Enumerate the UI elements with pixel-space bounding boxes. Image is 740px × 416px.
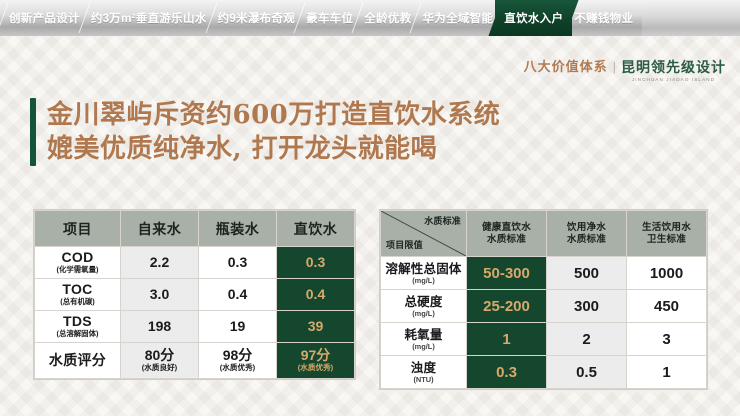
row-metric-name: TDS [63,314,92,329]
brand-divider: | [613,58,616,76]
cell-direct-highlight: 0.4 [277,279,355,311]
cell-tap: 198 [121,311,199,343]
nav-tab-4-label: 全龄优教 [364,10,411,26]
cell-tap-value: 80分 [145,348,175,363]
nav-tab-0[interactable]: 创新产品设计 [0,0,89,36]
nav-tab-5-label: 华为全域智能 [422,10,493,26]
cell-purified: 0.5 [547,356,627,389]
cell-bottled-value: 0.4 [228,287,247,302]
row-metric-sub: (总有机碳) [60,297,95,307]
row-metric-name: TOC [62,282,92,297]
row-item-unit: (NTU) [413,375,433,384]
col-header-purified: 饮用净水 水质标准 [547,211,627,257]
nav-tab-0-label: 创新产品设计 [9,10,80,26]
top-navigation-bar: 创新产品设计 约3万m²垂直游乐山水 约9米瀑布奇观 豪车车位 全龄优教 华为全… [0,0,740,36]
col-header-domestic: 生活饮用水 卫生标准 [627,211,707,257]
table-header-row: 水质标准 项目限值 健康直饮水 水质标准 饮用净水 水质标准 [381,211,707,257]
headline-line-2: 媲美优质纯净水, 打开龙头就能喝 [47,132,500,166]
row-item-unit: (mg/L) [412,309,435,318]
nav-tab-3-label: 豪车车位 [306,10,353,26]
brand-tagline-cn: 昆明领先级设计 [621,58,726,76]
cell-direct-value: 0.3 [306,255,325,270]
cell-bottled: 98分 (水质优秀) [199,343,277,379]
corner-limit-label: 项目限值 [386,240,423,251]
nav-tab-7-label: 不赚钱物业 [574,10,633,26]
cell-healthy-highlight: 50-300 [467,257,547,290]
cell-direct-value: 97分 [301,348,331,363]
col-header-metric: 项目 [35,211,121,247]
cell-direct-highlight: 39 [277,311,355,343]
cell-domestic: 450 [627,290,707,323]
col-header-tap: 自来水 [121,211,199,247]
headline-accent-bar [30,98,36,166]
row-item-unit: (mg/L) [412,276,435,285]
nav-tab-2[interactable]: 约9米瀑布奇观 [209,0,305,36]
table-header-row: 项目 自来水 瓶装水 直饮水 [35,211,355,247]
cell-bottled-note: (水质优秀) [220,363,255,373]
water-comparison-table-head: 项目 自来水 瓶装水 直饮水 [35,211,355,247]
row-item-cell: 耗氧量 (mg/L) [381,323,467,356]
cell-purified: 2 [547,323,627,356]
row-metric-cell: COD (化学需氧量) [35,247,121,279]
headline-block: 金川翠屿斥资约600万打造直饮水系统 媲美优质纯净水, 打开龙头就能喝 [30,98,500,166]
cell-healthy-highlight: 25-200 [467,290,547,323]
cell-direct-value: 39 [308,319,324,334]
cell-healthy-highlight: 1 [467,323,547,356]
cell-bottled: 0.3 [199,247,277,279]
cell-tap: 2.2 [121,247,199,279]
headline-line-1: 金川翠屿斥资约600万打造直饮水系统 [47,98,500,132]
brand-value-system-label: 八大价值体系 [524,58,608,76]
col-header-healthy-line2: 水质标准 [487,234,526,246]
cell-tap: 3.0 [121,279,199,311]
nav-tab-2-label: 约9米瀑布奇观 [218,10,296,26]
row-item-name: 浊度 [411,361,436,375]
nav-tab-1-label: 约3万m²垂直游乐山水 [91,10,207,26]
water-comparison-table: 项目 自来水 瓶装水 直饮水 COD (化学需氧量) 2.2 [34,210,355,379]
brand-eyebrow: 八大价值体系 | 昆明领先级设计 JINCHUAN JIADAO ISLAND [524,58,726,82]
cell-direct-highlight: 97分 (水质优秀) [277,343,355,379]
row-item-name: 总硬度 [404,295,442,309]
corner-standard-label: 水质标准 [424,216,461,227]
cell-bottled-value: 19 [230,319,246,334]
table-row: TOC (总有机碳) 3.0 0.4 0.4 [35,279,355,311]
row-item-cell: 浊度 (NTU) [381,356,467,389]
cell-bottled: 19 [199,311,277,343]
cell-domestic: 1000 [627,257,707,290]
row-metric-cell: 水质评分 [35,343,121,379]
col-header-purified-line1: 饮用净水 [567,222,606,234]
table-row: 总硬度 (mg/L) 25-200 300 450 [381,290,707,323]
headline-text-group: 金川翠屿斥资约600万打造直饮水系统 媲美优质纯净水, 打开龙头就能喝 [47,98,500,166]
cell-direct-note: (水质优秀) [298,363,333,373]
water-standards-table-body: 溶解性总固体 (mg/L) 50-300 500 1000 总硬度 (mg/L)… [381,257,707,389]
row-metric-cell: TDS (总溶解固体) [35,311,121,343]
row-metric-name: 水质评分 [49,353,106,368]
water-standards-table: 水质标准 项目限值 健康直饮水 水质标准 饮用净水 水质标准 [380,210,707,389]
cell-tap-note: (水质良好) [142,363,177,373]
cell-tap-value: 198 [148,319,171,334]
row-item-cell: 溶解性总固体 (mg/L) [381,257,467,290]
table-row: 耗氧量 (mg/L) 1 2 3 [381,323,707,356]
cell-bottled: 0.4 [199,279,277,311]
table-row: TDS (总溶解固体) 198 19 39 [35,311,355,343]
water-standards-table-head: 水质标准 项目限值 健康直饮水 水质标准 饮用净水 水质标准 [381,211,707,257]
row-item-unit: (mg/L) [412,342,435,351]
col-header-healthy: 健康直饮水 水质标准 [467,211,547,257]
nav-tab-5[interactable]: 华为全域智能 [413,0,502,36]
cell-direct-value: 0.4 [306,287,325,302]
cell-domestic: 3 [627,323,707,356]
nav-tab-6-active[interactable]: 直饮水入户 [495,0,572,36]
water-comparison-table-body: COD (化学需氧量) 2.2 0.3 0.3 [35,247,355,379]
nav-tab-6-label: 直饮水入户 [504,10,563,26]
row-metric-sub: (总溶解固体) [57,329,99,339]
cell-bottled-value: 0.3 [228,255,247,270]
col-header-purified-line2: 水质标准 [567,234,606,246]
row-item-name: 耗氧量 [404,328,442,342]
row-metric-cell: TOC (总有机碳) [35,279,121,311]
corner-header-cell: 水质标准 项目限值 [381,211,467,257]
slide-canvas: 创新产品设计 约3万m²垂直游乐山水 约9米瀑布奇观 豪车车位 全龄优教 华为全… [0,0,740,416]
cell-purified: 500 [547,257,627,290]
col-header-domestic-line2: 卫生标准 [647,234,686,246]
nav-tab-7[interactable]: 不赚钱物业 [565,0,642,36]
table-row: 浊度 (NTU) 0.3 0.5 1 [381,356,707,389]
brand-tagline-en: JINCHUAN JIADAO ISLAND [621,77,726,82]
cell-tap-value: 3.0 [150,287,169,302]
cell-tap-value: 2.2 [150,255,169,270]
cell-tap: 80分 (水质良好) [121,343,199,379]
row-metric-sub: (化学需氧量) [57,265,99,275]
table-row: 水质评分 80分 (水质良好) 98分 (水质优秀) [35,343,355,379]
col-header-domestic-line1: 生活饮用水 [642,222,691,234]
brand-tagline-group: 昆明领先级设计 JINCHUAN JIADAO ISLAND [621,58,726,82]
col-header-direct: 直饮水 [277,211,355,247]
cell-purified: 300 [547,290,627,323]
col-header-healthy-line1: 健康直饮水 [482,222,531,234]
row-item-name: 溶解性总固体 [385,262,461,276]
cell-bottled-value: 98分 [223,348,253,363]
row-metric-name: COD [61,250,93,265]
row-item-cell: 总硬度 (mg/L) [381,290,467,323]
col-header-bottled: 瓶装水 [199,211,277,247]
cell-healthy-highlight: 0.3 [467,356,547,389]
nav-tab-1[interactable]: 约3万m²垂直游乐山水 [82,0,216,36]
cell-direct-highlight: 0.3 [277,247,355,279]
cell-domestic: 1 [627,356,707,389]
table-row: 溶解性总固体 (mg/L) 50-300 500 1000 [381,257,707,290]
table-row: COD (化学需氧量) 2.2 0.3 0.3 [35,247,355,279]
